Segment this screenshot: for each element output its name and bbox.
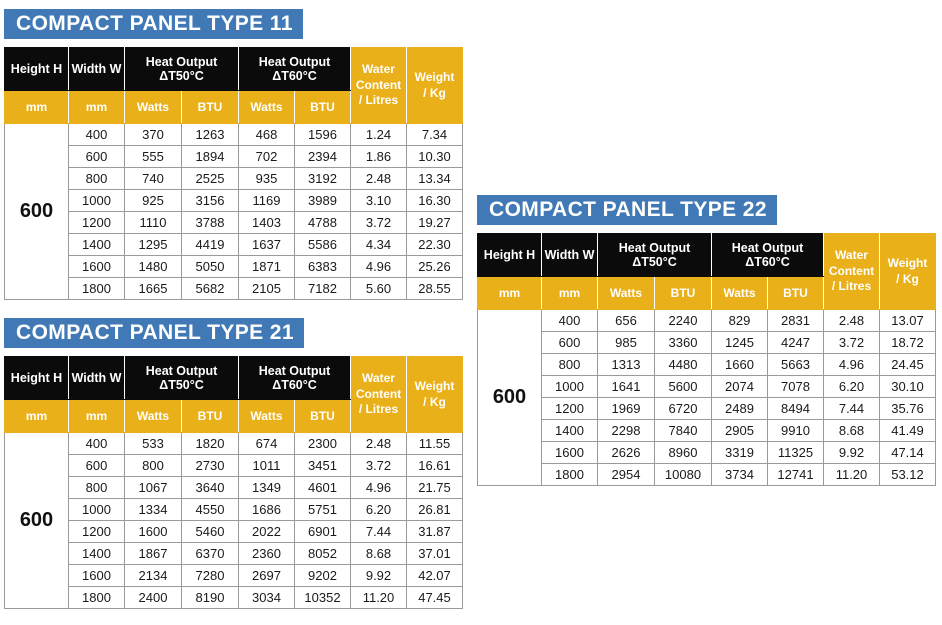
table-row: 100013344550168657516.2026.81	[5, 499, 463, 521]
cell-weight: 28.55	[407, 278, 463, 300]
cell-water-content: 7.44	[351, 521, 407, 543]
unit-header-width-mm: mm	[542, 277, 598, 310]
cell-water-content: 2.48	[351, 168, 407, 190]
cell-width: 1000	[542, 376, 598, 398]
cell-water-content: 1.86	[351, 146, 407, 168]
column-header-heat-output-dt50: Heat OutputΔT50°C	[125, 357, 239, 400]
cell-width: 1800	[542, 464, 598, 486]
cell-dt60-watts: 829	[712, 310, 768, 332]
cell-dt50-watts: 1480	[125, 256, 182, 278]
cell-dt60-btu: 3451	[295, 455, 351, 477]
cell-water-content: 3.10	[351, 190, 407, 212]
cell-width: 1200	[542, 398, 598, 420]
cell-dt60-btu: 3192	[295, 168, 351, 190]
cell-water-content: 11.20	[351, 587, 407, 609]
cell-dt60-watts: 2489	[712, 398, 768, 420]
cell-width: 400	[69, 124, 125, 146]
cell-dt50-btu: 1263	[182, 124, 239, 146]
cell-dt50-watts: 533	[125, 433, 182, 455]
column-header-heat-output-dt50: Heat OutputΔT50°C	[598, 234, 712, 277]
cell-width: 600	[542, 332, 598, 354]
cell-dt50-watts: 1067	[125, 477, 182, 499]
cell-dt50-watts: 2626	[598, 442, 655, 464]
cell-dt50-watts: 2298	[598, 420, 655, 442]
cell-water-content: 1.24	[351, 124, 407, 146]
table-header-row-primary: Height HWidth WHeat OutputΔT50°CHeat Out…	[478, 234, 936, 277]
unit-header-width-mm: mm	[69, 91, 125, 124]
cell-water-content: 8.68	[824, 420, 880, 442]
cell-dt50-btu: 2525	[182, 168, 239, 190]
cell-dt60-watts: 1169	[239, 190, 295, 212]
cell-width: 1400	[69, 234, 125, 256]
cell-dt60-watts: 2022	[239, 521, 295, 543]
panel-title-type-11: COMPACT PANEL TYPE 11	[4, 9, 303, 39]
cell-water-content: 8.68	[351, 543, 407, 565]
cell-width: 1200	[69, 212, 125, 234]
cell-width: 1800	[69, 587, 125, 609]
cell-dt60-btu: 2394	[295, 146, 351, 168]
cell-weight: 35.76	[880, 398, 936, 420]
column-header-height: Height H	[5, 48, 69, 91]
spec-table-type-21: Height HWidth WHeat OutputΔT50°CHeat Out…	[4, 356, 463, 609]
cell-dt60-btu: 7182	[295, 278, 351, 300]
cell-width: 600	[69, 455, 125, 477]
cell-dt60-btu: 4788	[295, 212, 351, 234]
cell-weight: 18.72	[880, 332, 936, 354]
cell-dt60-watts: 1349	[239, 477, 295, 499]
cell-weight: 47.14	[880, 442, 936, 464]
cell-water-content: 2.48	[351, 433, 407, 455]
cell-dt50-watts: 1334	[125, 499, 182, 521]
cell-dt50-btu: 8190	[182, 587, 239, 609]
table-header-row-primary: Height HWidth WHeat OutputΔT50°CHeat Out…	[5, 357, 463, 400]
cell-dt60-watts: 3034	[239, 587, 295, 609]
cell-height-value: 600	[5, 124, 69, 300]
cell-dt50-btu: 10080	[655, 464, 712, 486]
cell-dt50-watts: 2954	[598, 464, 655, 486]
cell-dt60-watts: 1871	[239, 256, 295, 278]
cell-width: 1200	[69, 521, 125, 543]
cell-weight: 26.81	[407, 499, 463, 521]
unit-header-height-mm: mm	[478, 277, 542, 310]
table-row: 120016005460202269017.4431.87	[5, 521, 463, 543]
unit-header-dt60-btu: BTU	[295, 91, 351, 124]
cell-dt60-watts: 2074	[712, 376, 768, 398]
spec-table-type-22: Height HWidth WHeat OutputΔT50°CHeat Out…	[477, 233, 936, 486]
unit-header-width-mm: mm	[69, 400, 125, 433]
cell-water-content: 11.20	[824, 464, 880, 486]
table-row: 80010673640134946014.9621.75	[5, 477, 463, 499]
table-row: 800740252593531922.4813.34	[5, 168, 463, 190]
cell-dt50-watts: 1600	[125, 521, 182, 543]
cell-dt60-btu: 9202	[295, 565, 351, 587]
cell-height-value: 600	[478, 310, 542, 486]
unit-header-dt60-btu: BTU	[295, 400, 351, 433]
cell-width: 800	[69, 477, 125, 499]
cell-dt50-watts: 370	[125, 124, 182, 146]
cell-dt60-btu: 5663	[768, 354, 824, 376]
table-row: 160014805050187163834.9625.26	[5, 256, 463, 278]
unit-header-dt60-watts: Watts	[239, 400, 295, 433]
cell-dt60-btu: 6901	[295, 521, 351, 543]
cell-width: 1600	[69, 565, 125, 587]
cell-dt50-watts: 1641	[598, 376, 655, 398]
unit-header-height-mm: mm	[5, 400, 69, 433]
column-header-width: Width W	[69, 48, 125, 91]
cell-dt60-btu: 5751	[295, 499, 351, 521]
unit-header-dt50-btu: BTU	[182, 400, 239, 433]
cell-dt50-btu: 2240	[655, 310, 712, 332]
cell-dt50-watts: 985	[598, 332, 655, 354]
table-row: 600555189470223941.8610.30	[5, 146, 463, 168]
cell-dt50-watts: 555	[125, 146, 182, 168]
unit-header-height-mm: mm	[5, 91, 69, 124]
cell-dt60-watts: 3734	[712, 464, 768, 486]
cell-dt50-watts: 740	[125, 168, 182, 190]
cell-dt60-btu: 11325	[768, 442, 824, 464]
unit-header-dt50-watts: Watts	[598, 277, 655, 310]
cell-weight: 13.34	[407, 168, 463, 190]
cell-dt50-btu: 3156	[182, 190, 239, 212]
spec-table-wrapper-type-21: Height HWidth WHeat OutputΔT50°CHeat Out…	[4, 356, 463, 609]
column-header-weight: Weight/ Kg	[407, 357, 463, 433]
cell-water-content: 3.72	[351, 212, 407, 234]
cell-weight: 16.30	[407, 190, 463, 212]
cell-dt50-watts: 1313	[598, 354, 655, 376]
cell-water-content: 7.44	[824, 398, 880, 420]
table-row: 180016655682210571825.6028.55	[5, 278, 463, 300]
cell-dt60-watts: 1637	[239, 234, 295, 256]
cell-dt60-btu: 7078	[768, 376, 824, 398]
cell-weight: 22.30	[407, 234, 463, 256]
column-header-water-content: WaterContent/ Litres	[351, 357, 407, 433]
table-row: 600400656224082928312.4813.07	[478, 310, 936, 332]
column-header-heat-output-dt60: Heat OutputΔT60°C	[239, 48, 351, 91]
cell-dt60-btu: 5586	[295, 234, 351, 256]
cell-width: 1000	[69, 499, 125, 521]
cell-dt50-watts: 2400	[125, 587, 182, 609]
cell-dt50-btu: 5682	[182, 278, 239, 300]
table-header-row-primary: Height HWidth WHeat OutputΔT50°CHeat Out…	[5, 48, 463, 91]
table-row: 18002400819030341035211.2047.45	[5, 587, 463, 609]
cell-weight: 7.34	[407, 124, 463, 146]
column-header-water-content: WaterContent/ Litres	[351, 48, 407, 124]
cell-width: 1600	[69, 256, 125, 278]
cell-dt50-watts: 656	[598, 310, 655, 332]
cell-dt50-btu: 7280	[182, 565, 239, 587]
unit-header-dt50-watts: Watts	[125, 400, 182, 433]
spec-table-wrapper-type-11: Height HWidth WHeat OutputΔT50°CHeat Out…	[4, 47, 463, 300]
table-row: 6009853360124542473.7218.72	[478, 332, 936, 354]
cell-water-content: 4.96	[351, 477, 407, 499]
panel-block-type-21: COMPACT PANEL TYPE 21 Height HWidth WHea…	[4, 318, 463, 609]
cell-dt50-btu: 4480	[655, 354, 712, 376]
cell-dt50-btu: 3788	[182, 212, 239, 234]
table-row: 120019696720248984947.4435.76	[478, 398, 936, 420]
cell-dt50-btu: 4419	[182, 234, 239, 256]
table-row: 600400370126346815961.247.34	[5, 124, 463, 146]
unit-header-dt60-watts: Watts	[239, 91, 295, 124]
cell-dt60-watts: 2105	[239, 278, 295, 300]
table-row: 600400533182067423002.4811.55	[5, 433, 463, 455]
cell-weight: 21.75	[407, 477, 463, 499]
cell-width: 400	[542, 310, 598, 332]
cell-dt50-watts: 1295	[125, 234, 182, 256]
cell-width: 1400	[542, 420, 598, 442]
cell-water-content: 4.34	[351, 234, 407, 256]
cell-dt60-watts: 702	[239, 146, 295, 168]
cell-dt50-btu: 4550	[182, 499, 239, 521]
cell-width: 1800	[69, 278, 125, 300]
cell-dt60-watts: 1011	[239, 455, 295, 477]
cell-width: 800	[542, 354, 598, 376]
column-header-heat-output-dt50: Heat OutputΔT50°C	[125, 48, 239, 91]
cell-weight: 11.55	[407, 433, 463, 455]
cell-dt50-btu: 5460	[182, 521, 239, 543]
cell-dt60-watts: 2697	[239, 565, 295, 587]
cell-dt60-watts: 468	[239, 124, 295, 146]
cell-weight: 19.27	[407, 212, 463, 234]
cell-dt60-watts: 1403	[239, 212, 295, 234]
cell-dt50-watts: 1110	[125, 212, 182, 234]
cell-dt60-watts: 2360	[239, 543, 295, 565]
unit-header-dt50-watts: Watts	[125, 91, 182, 124]
cell-dt50-btu: 1894	[182, 146, 239, 168]
cell-dt60-btu: 4601	[295, 477, 351, 499]
cell-dt60-btu: 2300	[295, 433, 351, 455]
table-row: 1600262689603319113259.9247.14	[478, 442, 936, 464]
unit-header-dt50-btu: BTU	[655, 277, 712, 310]
cell-dt60-btu: 3989	[295, 190, 351, 212]
cell-water-content: 5.60	[351, 278, 407, 300]
cell-weight: 41.49	[880, 420, 936, 442]
cell-dt60-btu: 10352	[295, 587, 351, 609]
cell-width: 1600	[542, 442, 598, 464]
column-header-weight: Weight/ Kg	[880, 234, 936, 310]
cell-dt50-btu: 3640	[182, 477, 239, 499]
cell-water-content: 3.72	[824, 332, 880, 354]
cell-water-content: 9.92	[824, 442, 880, 464]
cell-dt50-btu: 3360	[655, 332, 712, 354]
table-row: 140018676370236080528.6837.01	[5, 543, 463, 565]
cell-weight: 16.61	[407, 455, 463, 477]
cell-dt50-btu: 7840	[655, 420, 712, 442]
cell-weight: 37.01	[407, 543, 463, 565]
cell-weight: 25.26	[407, 256, 463, 278]
cell-dt50-watts: 925	[125, 190, 182, 212]
panel-block-type-22: COMPACT PANEL TYPE 22 Height HWidth WHea…	[477, 195, 936, 486]
cell-width: 800	[69, 168, 125, 190]
table-row: 10009253156116939893.1016.30	[5, 190, 463, 212]
cell-dt60-watts: 1686	[239, 499, 295, 521]
cell-water-content: 9.92	[351, 565, 407, 587]
cell-weight: 24.45	[880, 354, 936, 376]
cell-weight: 13.07	[880, 310, 936, 332]
cell-water-content: 4.96	[824, 354, 880, 376]
unit-header-dt60-btu: BTU	[768, 277, 824, 310]
table-row: 160021347280269792029.9242.07	[5, 565, 463, 587]
cell-weight: 42.07	[407, 565, 463, 587]
table-row: 120011103788140347883.7219.27	[5, 212, 463, 234]
cell-weight: 31.87	[407, 521, 463, 543]
cell-height-value: 600	[5, 433, 69, 609]
table-row: 140012954419163755864.3422.30	[5, 234, 463, 256]
cell-dt60-watts: 3319	[712, 442, 768, 464]
spec-table-type-11: Height HWidth WHeat OutputΔT50°CHeat Out…	[4, 47, 463, 300]
cell-water-content: 4.96	[351, 256, 407, 278]
cell-dt60-btu: 4247	[768, 332, 824, 354]
cell-dt60-watts: 935	[239, 168, 295, 190]
cell-dt60-watts: 674	[239, 433, 295, 455]
cell-dt60-btu: 8052	[295, 543, 351, 565]
panel-title-type-22: COMPACT PANEL TYPE 22	[477, 195, 777, 225]
table-row: 180029541008037341274111.2053.12	[478, 464, 936, 486]
cell-dt60-btu: 1596	[295, 124, 351, 146]
column-header-width: Width W	[542, 234, 598, 277]
cell-dt60-watts: 2905	[712, 420, 768, 442]
table-row: 80013134480166056634.9624.45	[478, 354, 936, 376]
column-header-weight: Weight/ Kg	[407, 48, 463, 124]
cell-dt50-btu: 5600	[655, 376, 712, 398]
cell-width: 600	[69, 146, 125, 168]
cell-width: 1000	[69, 190, 125, 212]
cell-width: 1400	[69, 543, 125, 565]
cell-weight: 10.30	[407, 146, 463, 168]
column-header-heat-output-dt60: Heat OutputΔT60°C	[239, 357, 351, 400]
cell-dt60-btu: 8494	[768, 398, 824, 420]
cell-dt50-btu: 5050	[182, 256, 239, 278]
cell-dt50-watts: 1969	[598, 398, 655, 420]
cell-dt60-watts: 1660	[712, 354, 768, 376]
spec-table-wrapper-type-22: Height HWidth WHeat OutputΔT50°CHeat Out…	[477, 233, 936, 486]
cell-dt60-btu: 2831	[768, 310, 824, 332]
column-header-height: Height H	[5, 357, 69, 400]
unit-header-dt50-btu: BTU	[182, 91, 239, 124]
table-row: 6008002730101134513.7216.61	[5, 455, 463, 477]
table-row: 100016415600207470786.2030.10	[478, 376, 936, 398]
cell-weight: 47.45	[407, 587, 463, 609]
cell-water-content: 6.20	[824, 376, 880, 398]
cell-dt50-btu: 1820	[182, 433, 239, 455]
column-header-height: Height H	[478, 234, 542, 277]
column-header-heat-output-dt60: Heat OutputΔT60°C	[712, 234, 824, 277]
cell-dt50-btu: 2730	[182, 455, 239, 477]
cell-dt50-btu: 6370	[182, 543, 239, 565]
cell-dt50-watts: 2134	[125, 565, 182, 587]
cell-dt60-watts: 1245	[712, 332, 768, 354]
cell-dt60-btu: 12741	[768, 464, 824, 486]
panel-block-type-11: COMPACT PANEL TYPE 11 Height HWidth WHea…	[4, 9, 463, 300]
cell-water-content: 2.48	[824, 310, 880, 332]
cell-dt60-btu: 6383	[295, 256, 351, 278]
cell-dt50-watts: 1665	[125, 278, 182, 300]
cell-dt50-watts: 800	[125, 455, 182, 477]
cell-dt60-btu: 9910	[768, 420, 824, 442]
column-header-water-content: WaterContent/ Litres	[824, 234, 880, 310]
table-row: 140022987840290599108.6841.49	[478, 420, 936, 442]
cell-water-content: 3.72	[351, 455, 407, 477]
cell-dt50-btu: 6720	[655, 398, 712, 420]
column-header-width: Width W	[69, 357, 125, 400]
cell-width: 400	[69, 433, 125, 455]
cell-dt50-watts: 1867	[125, 543, 182, 565]
cell-dt50-btu: 8960	[655, 442, 712, 464]
cell-weight: 53.12	[880, 464, 936, 486]
cell-water-content: 6.20	[351, 499, 407, 521]
unit-header-dt60-watts: Watts	[712, 277, 768, 310]
cell-weight: 30.10	[880, 376, 936, 398]
panel-title-type-21: COMPACT PANEL TYPE 21	[4, 318, 304, 348]
